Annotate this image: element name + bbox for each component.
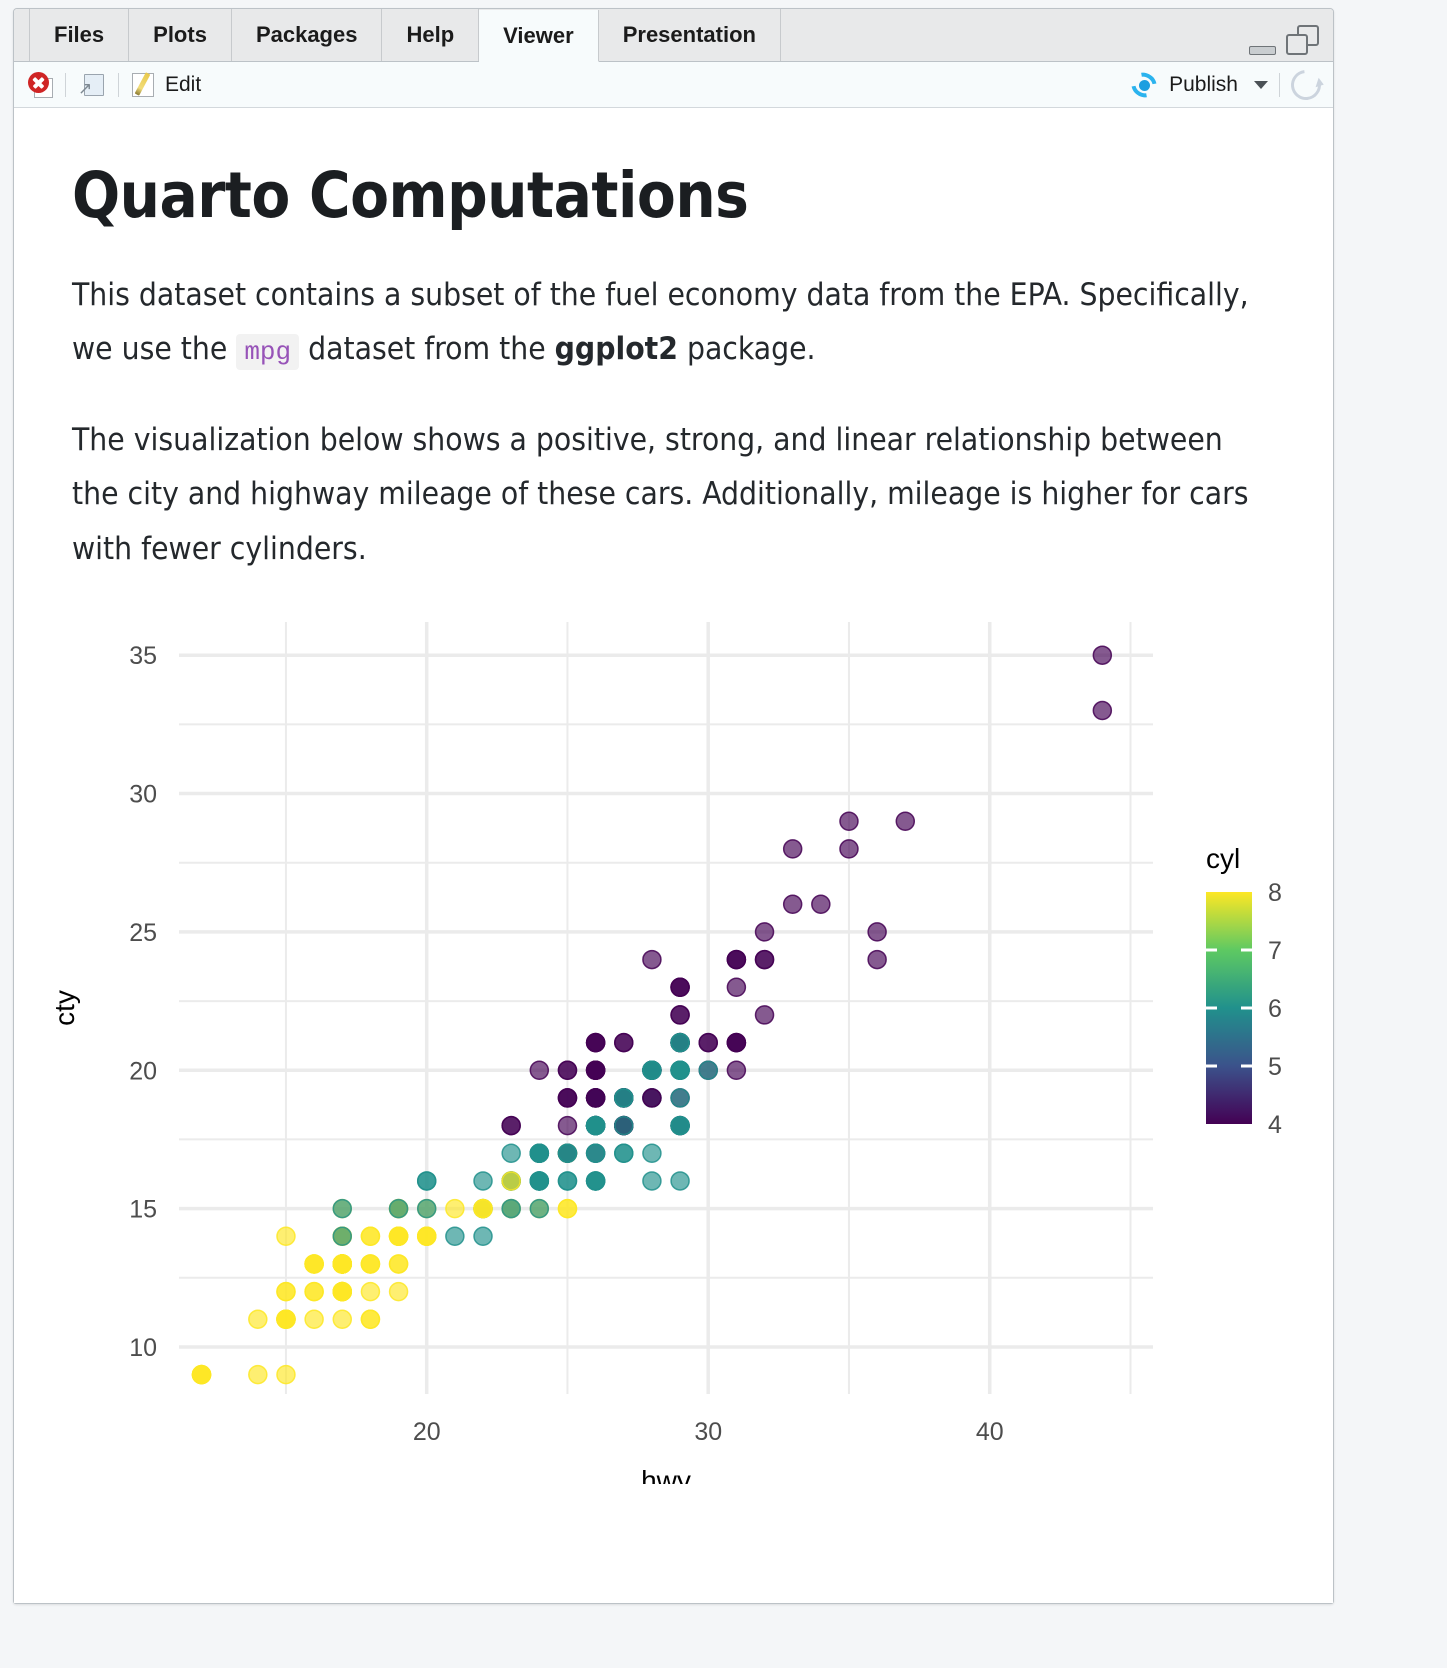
data-point <box>615 1117 633 1135</box>
data-point <box>390 1228 408 1246</box>
tab-label: Help <box>406 22 454 48</box>
data-point <box>727 1034 745 1052</box>
tab-viewer[interactable]: Viewer <box>479 10 599 62</box>
data-point <box>333 1311 351 1329</box>
data-point <box>643 1145 661 1163</box>
data-point <box>502 1200 520 1218</box>
data-point <box>1093 647 1111 665</box>
y-axis-title: cty <box>49 991 80 1027</box>
data-point <box>530 1172 548 1190</box>
data-point <box>587 1145 605 1163</box>
tab-label: Viewer <box>503 23 574 49</box>
y-tick-label: 35 <box>129 643 157 671</box>
chevron-down-icon[interactable] <box>1254 81 1268 89</box>
data-point <box>418 1172 436 1190</box>
tab-help[interactable]: Help <box>382 9 479 61</box>
data-point <box>784 840 802 858</box>
data-point <box>502 1145 520 1163</box>
para1-text-b: dataset from the <box>299 331 555 367</box>
x-tick-label: 40 <box>976 1418 1004 1446</box>
viewer-pane: Files Plots Packages Help Viewer Present… <box>13 8 1334 1604</box>
publish-button[interactable]: Publish <box>1126 72 1238 98</box>
tab-presentation[interactable]: Presentation <box>599 9 781 61</box>
data-point <box>699 1034 717 1052</box>
data-point <box>756 1006 774 1024</box>
y-tick-label: 15 <box>129 1196 157 1224</box>
data-point <box>305 1283 323 1301</box>
data-point <box>361 1283 379 1301</box>
data-point <box>671 979 689 997</box>
para1-text-c: package. <box>678 331 816 367</box>
legend-tick-label: 7 <box>1268 937 1282 965</box>
data-point <box>558 1145 576 1163</box>
data-point <box>699 1062 717 1080</box>
edit-icon <box>130 72 158 98</box>
x-tick-label: 30 <box>694 1418 722 1446</box>
legend-tick-label: 4 <box>1268 1111 1282 1139</box>
y-tick-label: 10 <box>129 1334 157 1362</box>
data-point <box>587 1117 605 1135</box>
data-point <box>840 813 858 831</box>
data-point <box>474 1200 492 1218</box>
tab-packages[interactable]: Packages <box>232 9 383 61</box>
data-point <box>840 840 858 858</box>
data-point <box>896 813 914 831</box>
minimize-icon[interactable] <box>1249 37 1276 55</box>
data-point <box>1093 702 1111 720</box>
data-point <box>530 1062 548 1080</box>
y-tick-label: 30 <box>129 781 157 809</box>
data-point <box>361 1255 379 1273</box>
refresh-icon[interactable] <box>1285 64 1327 106</box>
data-point <box>671 1089 689 1107</box>
data-point <box>643 951 661 969</box>
data-point <box>784 896 802 914</box>
data-point <box>756 951 774 969</box>
data-point <box>671 1034 689 1052</box>
legend-tick-label: 8 <box>1268 879 1282 907</box>
scatter-plot: 101520253035203040ctyhwycyl45678 <box>14 604 1333 1484</box>
data-point <box>305 1311 323 1329</box>
tab-plots[interactable]: Plots <box>129 9 232 61</box>
data-point <box>587 1062 605 1080</box>
data-point <box>277 1283 295 1301</box>
edit-label: Edit <box>165 73 201 97</box>
edit-button[interactable]: Edit <box>130 72 201 98</box>
data-point <box>558 1089 576 1107</box>
data-point <box>671 1062 689 1080</box>
window-controls <box>1249 25 1319 55</box>
data-point <box>615 1145 633 1163</box>
tab-label: Packages <box>256 22 358 48</box>
data-point <box>390 1200 408 1218</box>
data-point <box>671 1006 689 1024</box>
data-point <box>643 1089 661 1107</box>
data-point <box>587 1034 605 1052</box>
publish-label: Publish <box>1169 73 1238 97</box>
y-tick-label: 25 <box>129 919 157 947</box>
data-point <box>502 1117 520 1135</box>
pane-tabbar: Files Plots Packages Help Viewer Present… <box>14 9 1333 62</box>
data-point <box>361 1228 379 1246</box>
data-point <box>446 1200 464 1218</box>
x-tick-label: 20 <box>413 1418 441 1446</box>
tab-label: Presentation <box>623 22 756 48</box>
page-title: Quarto Computations <box>72 159 1333 232</box>
data-point <box>727 951 745 969</box>
toolbar-right-group: Publish <box>1126 62 1321 108</box>
plot-svg: 101520253035203040ctyhwycyl45678 <box>14 604 1333 1484</box>
data-point <box>615 1089 633 1107</box>
data-point <box>249 1311 267 1329</box>
legend-title: cyl <box>1206 843 1240 874</box>
data-point <box>474 1228 492 1246</box>
data-point <box>558 1117 576 1135</box>
data-point <box>558 1200 576 1218</box>
data-point <box>305 1255 323 1273</box>
show-in-new-window-icon[interactable]: ↗ <box>77 72 107 98</box>
x-axis-title: hwy <box>641 1465 691 1484</box>
tab-label: Files <box>54 22 104 48</box>
stop-icon[interactable] <box>28 72 54 98</box>
data-point <box>390 1255 408 1273</box>
data-point <box>558 1172 576 1190</box>
data-point <box>333 1255 351 1273</box>
data-point <box>812 896 830 914</box>
maximize-icon[interactable] <box>1286 25 1319 55</box>
data-point <box>671 1172 689 1190</box>
data-point <box>446 1228 464 1246</box>
toolbar-divider <box>65 73 66 97</box>
data-point <box>361 1311 379 1329</box>
legend-tick-label: 5 <box>1268 1053 1282 1081</box>
para1-bold-ggplot2: ggplot2 <box>555 331 678 367</box>
data-point <box>587 1089 605 1107</box>
data-point <box>727 979 745 997</box>
toolbar-divider <box>1279 73 1280 97</box>
data-point <box>418 1228 436 1246</box>
data-point <box>615 1034 633 1052</box>
data-point <box>390 1283 408 1301</box>
toolbar-divider <box>118 73 119 97</box>
data-point <box>558 1062 576 1080</box>
viewer-document: Quarto Computations This dataset contain… <box>14 109 1333 1603</box>
viewer-toolbar: ↗ Edit Publish <box>14 62 1333 108</box>
tab-label: Plots <box>153 22 207 48</box>
publish-icon <box>1126 72 1162 98</box>
data-point <box>502 1172 520 1190</box>
data-point <box>474 1172 492 1190</box>
paragraph-description: The visualization below shows a positive… <box>72 413 1275 576</box>
data-point <box>643 1172 661 1190</box>
paragraph-intro: This dataset contains a subset of the fu… <box>72 268 1275 377</box>
y-tick-label: 20 <box>129 1058 157 1086</box>
legend-tick-label: 6 <box>1268 995 1282 1023</box>
data-point <box>333 1200 351 1218</box>
data-point <box>868 923 886 941</box>
data-point <box>530 1145 548 1163</box>
data-point <box>727 1062 745 1080</box>
data-point <box>671 1117 689 1135</box>
data-point <box>418 1200 436 1218</box>
data-point <box>249 1366 267 1384</box>
data-point <box>277 1366 295 1384</box>
data-point <box>333 1283 351 1301</box>
data-point <box>193 1366 211 1384</box>
data-point <box>643 1062 661 1080</box>
data-point <box>756 923 774 941</box>
data-point <box>530 1200 548 1218</box>
inline-code-mpg: mpg <box>236 334 299 370</box>
data-point <box>868 951 886 969</box>
data-point <box>333 1228 351 1246</box>
data-point <box>587 1172 605 1190</box>
tab-files[interactable]: Files <box>29 9 129 61</box>
data-point <box>277 1228 295 1246</box>
data-point <box>277 1311 295 1329</box>
